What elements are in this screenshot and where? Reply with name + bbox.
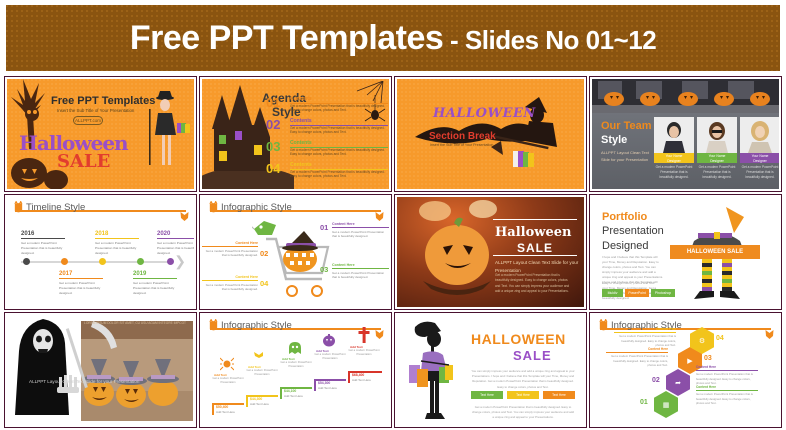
- slide-7-body: Get a modern PowerPoint Presentation tha…: [495, 273, 573, 295]
- timeline-marker-1: [23, 258, 30, 265]
- banner-main-text: Free PPT Templates: [130, 19, 444, 57]
- slide-4-body: ALLPPT Layout Clean Text Slide for your …: [601, 149, 649, 163]
- slide-6-number-3: 03: [320, 265, 328, 274]
- slide-2-number-3: 03: [266, 139, 280, 154]
- slide-8-title-line3: Designed: [602, 240, 648, 252]
- slide-6-number-2: 02: [260, 249, 268, 258]
- avatar-3: [740, 117, 779, 153]
- witch-shopper-icon: [401, 319, 473, 423]
- slide-thumbnail-1[interactable]: Free PPT Templates Insert the Sub Title …: [4, 76, 197, 192]
- ribbon-banner-icon: HALLOWEEN SALE: [670, 245, 760, 259]
- slide-2-number-1: 01: [266, 95, 280, 110]
- slide-10-canvas: Infographic Style $50,400 Add Text Here …: [202, 315, 389, 425]
- hexagon-number-3: 03: [704, 355, 712, 362]
- slide-9-body: ALLPPT Layout Clean Text Slide for your …: [29, 377, 139, 386]
- slide-2-number-2: 02: [266, 117, 280, 132]
- slide-6-item-4: Content Here Get a modern PowerPoint Pre…: [202, 275, 258, 292]
- slide-2-text-4: Get a modern PowerPoint Presentation tha…: [290, 170, 388, 180]
- slide-thumbnail-6[interactable]: Infographic Style: [199, 194, 392, 310]
- step-text-1: Get a modern PowerPoint Presentation: [208, 377, 248, 386]
- arrow-right-icon: ❯: [174, 253, 186, 270]
- slide-9-canvas: ALLPPT Layout Clean Text Slide for your …: [7, 315, 194, 425]
- slide-3-headline: HALLOWEEN: [433, 106, 536, 121]
- slide-8-canvas: Portfolio Presentation Designed I hope a…: [592, 197, 779, 307]
- slide-11-canvas: HALLOWEEN SALE You can simply impress yo…: [397, 315, 584, 425]
- ghost-icon: [288, 341, 302, 355]
- step-sublabel-5: Add Text Here: [352, 378, 371, 382]
- team-member-name-1: Your NameDesigner: [654, 153, 694, 163]
- slide-thumbnail-8[interactable]: Portfolio Presentation Designed I hope a…: [589, 194, 782, 310]
- team-member-card-2[interactable]: Your NameDesigner Get a modern PowerPoin…: [697, 117, 737, 180]
- timeline-event-3: 2018 Get a modern PowerPoint Presentatio…: [95, 231, 139, 256]
- hexagon-number-1: 01: [640, 399, 648, 406]
- slide-6-number-4: 04: [260, 279, 268, 288]
- slide-2-heading-4: Contents: [290, 162, 388, 168]
- bat-icon: [765, 328, 774, 340]
- slide-1-logo: ALLPPT.com: [73, 116, 103, 125]
- slide-12-item-4: Content Here Get a modern PowerPoint Pre…: [614, 327, 676, 348]
- slide-4-canvas: Our Team Style ALLPPT Layout Clean Text …: [592, 79, 779, 189]
- slide-7-headline2: SALE: [517, 241, 553, 255]
- step-label-3: $44,100: [284, 389, 296, 393]
- slide-thumbnail-2[interactable]: Agenda Style 01 Contents Get a modern Po…: [199, 76, 392, 192]
- team-member-desc-1: Get a modern PowerPoint Presentation tha…: [654, 165, 694, 180]
- slide-2-heading-1: Contents: [290, 96, 388, 102]
- step-sublabel-2: Add Text Here: [250, 402, 269, 406]
- tag-button-1[interactable]: Muldiv: [602, 289, 623, 297]
- hexagon-1: ▦: [654, 391, 678, 418]
- slide-11-headline: HALLOWEEN: [471, 331, 566, 347]
- slide-3-canvas: HALLOWEEN Section Break Insert the Sub T…: [397, 79, 584, 189]
- step-riser-5: [348, 371, 350, 383]
- slide-6-item-3: Content Here Get a modern PowerPoint Pre…: [332, 263, 389, 280]
- price-tag-icon: [252, 219, 278, 239]
- slide-2-text-3: Get a modern PowerPoint Presentation tha…: [290, 148, 388, 158]
- slide-11-body2: Get a modern PowerPoint Presentation tha…: [471, 405, 575, 421]
- slide-thumbnail-11[interactable]: HALLOWEEN SALE You can simply impress yo…: [394, 312, 587, 428]
- slide-9-corner-text: LOREM IPSUM DOLOR SIT AMET, CU USU AGAM …: [84, 321, 186, 326]
- slide-6-number-1: 01: [320, 223, 328, 232]
- banner-title: Free PPT Templates - Slides No 01~12: [130, 19, 656, 58]
- timeline-marker-3: [99, 258, 106, 265]
- slide-6-item-2: Content Here Get a modern PowerPoint Pre…: [202, 241, 258, 258]
- page-root: Free PPT Templates - Slides No 01~12: [0, 0, 786, 430]
- slide-3-title: Section Break: [429, 131, 496, 142]
- slide-thumbnail-9[interactable]: ALLPPT Layout Clean Text Slide for your …: [4, 312, 197, 428]
- slide-7-canvas: Halloween SALE ALLPPT Layout Clean Text …: [397, 197, 584, 307]
- timeline-axis: [21, 261, 172, 263]
- slide-8-title-line1: Portfolio: [602, 211, 647, 223]
- avatar-1: [654, 117, 694, 153]
- owl-icon: [23, 105, 41, 121]
- slide-6-canvas: Infographic Style: [202, 197, 389, 307]
- bat-icon: [180, 210, 189, 222]
- slide-2-text-2: Get a modern PowerPoint Presentation tha…: [290, 126, 388, 136]
- slide-1-subtitle: Insert the Sub Title of Your Presentatio…: [57, 108, 134, 113]
- slide-1-headline2: SALE: [57, 151, 110, 172]
- step-label-1: $50,400: [216, 405, 228, 409]
- slide-11-button-2[interactable]: Text Here: [507, 391, 539, 399]
- slide-1-title: Free PPT Templates: [51, 95, 155, 107]
- cat-icon: [13, 201, 24, 214]
- cat-icon: [598, 319, 609, 332]
- team-member-desc-3: Get a modern PowerPoint Presentation tha…: [740, 165, 779, 180]
- step-riser-3: [280, 387, 282, 399]
- slide-thumbnail-7[interactable]: Halloween SALE ALLPPT Layout Clean Text …: [394, 194, 587, 310]
- step-riser-4: [314, 379, 316, 391]
- gear-icon: ⚙: [694, 332, 710, 350]
- step-label-4: $54,300: [318, 381, 330, 385]
- slide-2-heading-2: Contents: [290, 118, 388, 124]
- step-text-2: Get a modern PowerPoint Presentation: [242, 369, 282, 378]
- hexagon-number-4: 04: [716, 335, 724, 342]
- timeline-event-5: 2020 Get a modern PowerPoint Presentatio…: [157, 231, 194, 256]
- pumpkin-icon: [322, 333, 336, 347]
- slide-thumbnail-12[interactable]: Infographic Style ▦ 01 ➦ 02 ▶ 03 ⚙ 04: [589, 312, 782, 428]
- slide-12-item-2: Content Here Get a modern PowerPoint Pre…: [696, 365, 758, 386]
- slide-6-item-1: Content Here Get a modern PowerPoint Pre…: [332, 222, 389, 239]
- slide-2-heading-3: Contents: [290, 140, 388, 146]
- slide-thumbnail-4[interactable]: Our Team Style ALLPPT Layout Clean Text …: [589, 76, 782, 192]
- banner-sub-text: - Slides No 01~12: [443, 25, 656, 55]
- slide-6-title: Infographic Style: [221, 202, 292, 213]
- bat-icon: [375, 210, 384, 222]
- slide-12-item-1: Content Here Get a modern PowerPoint Pre…: [696, 385, 758, 406]
- team-member-name-2: Your NameDesigner: [697, 153, 737, 163]
- step-text-5: Get a modern PowerPoint Presentation: [344, 349, 384, 358]
- slide-3-subtitle: Insert the Sub Title of Your Presentatio…: [430, 143, 493, 147]
- rule-top: [493, 219, 577, 220]
- step-label-5: $68,400: [352, 373, 364, 377]
- step-riser-1: [212, 403, 214, 415]
- timeline-event-2: 2017 Get a modern PowerPoint Presentatio…: [59, 271, 103, 296]
- slide-11-button-1[interactable]: Text Here: [471, 391, 503, 399]
- team-member-card-1[interactable]: Your NameDesigner Get a modern PowerPoin…: [654, 117, 694, 180]
- scythe-icon: [53, 317, 123, 403]
- plane-icon: ➦: [670, 374, 686, 392]
- timeline-event-4: 2019 Get a modern PowerPoint Presentatio…: [133, 271, 177, 296]
- step-label-2: $44,300: [250, 397, 262, 401]
- slide-11-headline2: SALE: [513, 348, 552, 363]
- slide-11-body: You can simply impress your audience and…: [471, 369, 575, 390]
- slide-4-title-line2: Style: [601, 134, 627, 146]
- step-sublabel-1: Add Text Here: [216, 410, 235, 414]
- slide-1-canvas: Free PPT Templates Insert the Sub Title …: [7, 79, 194, 189]
- slide-8-title-line2: Presentation: [602, 225, 664, 237]
- slide-thumbnail-3[interactable]: HALLOWEEN Section Break Insert the Sub T…: [394, 76, 587, 192]
- slide-4-title-line1: Our Team: [601, 120, 652, 132]
- slide-5-title: Timeline Style: [26, 202, 85, 213]
- cat-icon: [208, 319, 219, 332]
- slide-11-button-3[interactable]: Text Here: [543, 391, 575, 399]
- slide-thumbnail-10[interactable]: Infographic Style $50,400 Add Text Here …: [199, 312, 392, 428]
- timeline-marker-4: [137, 258, 144, 265]
- spider-icon: [220, 357, 234, 371]
- avatar-2: [697, 117, 737, 153]
- hexagon-2: ➦: [666, 369, 690, 396]
- timeline-event-1: 2016 Get a modern PowerPoint Presentatio…: [21, 231, 65, 256]
- bat-icon: [375, 328, 384, 340]
- slide-grid: Free PPT Templates Insert the Sub Title …: [4, 76, 782, 428]
- slide-thumbnail-5[interactable]: Timeline Style ❯ 2016 Get a modern Power…: [4, 194, 197, 310]
- cross-icon: [358, 327, 370, 343]
- step-sublabel-3: Add Text Here: [284, 394, 303, 398]
- rule-bottom: [493, 255, 577, 256]
- team-member-name-3: Your NameDesigner: [740, 153, 779, 163]
- slide-5-canvas: Timeline Style ❯ 2016 Get a modern Power…: [7, 197, 194, 307]
- chart-icon: ▦: [658, 396, 674, 414]
- slide-12-canvas: Infographic Style ▦ 01 ➦ 02 ▶ 03 ⚙ 04: [592, 315, 779, 425]
- slide-10-title: Infographic Style: [221, 320, 292, 331]
- slide-2-canvas: Agenda Style 01 Contents Get a modern Po…: [202, 79, 389, 189]
- header-banner: Free PPT Templates - Slides No 01~12: [6, 5, 780, 71]
- step-text-3: Get a modern PowerPoint Presentation: [276, 361, 316, 370]
- team-member-desc-2: Get a modern PowerPoint Presentation tha…: [697, 165, 737, 180]
- step-sublabel-4: Add Text Here: [318, 386, 337, 390]
- pumpkin-row-photo-icon: [592, 79, 779, 113]
- tag-button-2[interactable]: PowerPoint: [625, 289, 649, 297]
- slide-12-item-3: Content Here Get a modern PowerPoint Pre…: [606, 347, 668, 368]
- slide-8-body2: Easy to change colors, photos and Text.: [602, 281, 664, 285]
- step-riser-2: [246, 395, 248, 407]
- team-member-card-3[interactable]: Your NameDesigner Get a modern PowerPoin…: [740, 117, 779, 180]
- hexagon-number-2: 02: [652, 377, 660, 384]
- timeline-marker-2: [61, 258, 68, 265]
- timeline-marker-5: [167, 258, 174, 265]
- slide-2-text-1: Get a modern PowerPoint Presentation tha…: [290, 104, 388, 114]
- bat-icon: [254, 349, 268, 359]
- slide-7-headline: Halloween: [495, 225, 571, 240]
- cat-icon: [208, 201, 219, 214]
- slide-2-number-4: 04: [266, 161, 280, 176]
